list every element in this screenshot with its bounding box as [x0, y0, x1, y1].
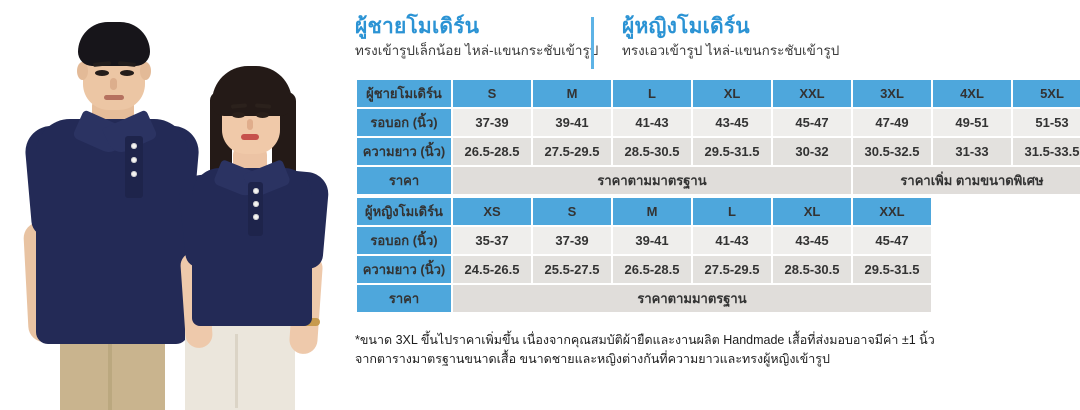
male-nose: [110, 78, 117, 90]
women-length-row: ความยาว (นิ้ว) 24.5-26.5 25.5-27.5 26.5-…: [357, 256, 931, 283]
women-size-xl: XL: [773, 198, 851, 225]
women-chest-row: รอบอก (นิ้ว) 35-37 37-39 39-41 41-43 43-…: [357, 227, 931, 254]
men-length-4xl: 31-33: [933, 138, 1011, 165]
men-size-3xl: 3XL: [853, 80, 931, 107]
men-chest-3xl: 47-49: [853, 109, 931, 136]
men-length-label: ความยาว (นิ้ว): [357, 138, 451, 165]
men-length-m: 27.5-29.5: [533, 138, 611, 165]
size-chart-page: ผู้ชายโมเดิร์น ทรงเข้ารูปเล็กน้อย ไหล่-แ…: [0, 0, 1080, 410]
men-chest-s: 37-39: [453, 109, 531, 136]
men-length-s: 26.5-28.5: [453, 138, 531, 165]
male-mouth: [104, 95, 124, 100]
women-length-m: 26.5-28.5: [613, 256, 691, 283]
women-size-xs: XS: [453, 198, 531, 225]
male-polo-shirt: [36, 119, 188, 344]
women-chest-m: 39-41: [613, 227, 691, 254]
men-size-xl: XL: [693, 80, 771, 107]
female-hair-top: [212, 66, 292, 116]
men-chest-xxl: 45-47: [773, 109, 851, 136]
women-size-xxl: XXL: [853, 198, 931, 225]
men-length-row: ความยาว (นิ้ว) 26.5-28.5 27.5-29.5 28.5-…: [357, 138, 1080, 165]
heading-women-subtitle: ทรงเอวเข้ารูป ไหล่-แขนกระชับเข้ารูป: [622, 43, 839, 60]
male-button-1: [131, 143, 137, 149]
headings-row: ผู้ชายโมเดิร์น ทรงเข้ารูปเล็กน้อย ไหล่-แ…: [355, 0, 1080, 78]
heading-women: ผู้หญิงโมเดิร์น ทรงเอวเข้ารูป ไหล่-แขนกร…: [594, 14, 839, 60]
men-length-5xl: 31.5-33.5: [1013, 138, 1080, 165]
men-length-xxl: 30-32: [773, 138, 851, 165]
men-corner-label: ผู้ชายโมเดิร์น: [357, 80, 451, 107]
men-price-standard: ราคาตามมาตรฐาน: [453, 167, 851, 194]
men-size-xxl: XXL: [773, 80, 851, 107]
footnote: *ขนาด 3XL ขึ้นไปราคาเพิ่มขึ้น เนื่องจากค…: [355, 331, 1080, 370]
women-price-standard: ราคาตามมาตรฐาน: [453, 285, 931, 312]
men-chest-row: รอบอก (นิ้ว) 37-39 39-41 41-43 43-45 45-…: [357, 109, 1080, 136]
male-hair: [78, 22, 150, 66]
heading-men: ผู้ชายโมเดิร์น ทรงเข้ารูปเล็กน้อย ไหล่-แ…: [355, 14, 591, 60]
women-length-s: 25.5-27.5: [533, 256, 611, 283]
men-header-row: ผู้ชายโมเดิร์น S M L XL XXL 3XL 4XL 5XL: [357, 80, 1080, 107]
heading-women-title: ผู้หญิงโมเดิร์น: [622, 14, 839, 39]
women-length-xl: 28.5-30.5: [773, 256, 851, 283]
men-size-table: ผู้ชายโมเดิร์น S M L XL XXL 3XL 4XL 5XL …: [355, 78, 1080, 196]
men-chest-label: รอบอก (นิ้ว): [357, 109, 451, 136]
female-eye-left: [232, 112, 245, 118]
women-price-row: ราคา ราคาตามมาตรฐาน: [357, 285, 931, 312]
men-size-m: M: [533, 80, 611, 107]
men-price-extra: ราคาเพิ่ม ตามขนาดพิเศษ: [853, 167, 1080, 194]
male-button-3: [131, 171, 137, 177]
male-eye-right: [120, 70, 134, 76]
women-size-s: S: [533, 198, 611, 225]
men-price-label: ราคา: [357, 167, 451, 194]
women-size-l: L: [693, 198, 771, 225]
female-button-1: [253, 188, 259, 194]
women-size-m: M: [613, 198, 691, 225]
men-size-s: S: [453, 80, 531, 107]
women-corner-label: ผู้หญิงโมเดิร์น: [357, 198, 451, 225]
women-size-table: ผู้หญิงโมเดิร์น XS S M L XL XXL รอบอก (น…: [355, 196, 933, 314]
women-length-xxl: 29.5-31.5: [853, 256, 931, 283]
women-length-l: 27.5-29.5: [693, 256, 771, 283]
women-header-row: ผู้หญิงโมเดิร์น XS S M L XL XXL: [357, 198, 931, 225]
men-chest-5xl: 51-53: [1013, 109, 1080, 136]
men-size-4xl: 4XL: [933, 80, 1011, 107]
women-chest-xxl: 45-47: [853, 227, 931, 254]
female-button-2: [253, 201, 259, 207]
women-chest-l: 41-43: [693, 227, 771, 254]
women-length-label: ความยาว (นิ้ว): [357, 256, 451, 283]
heading-men-subtitle: ทรงเข้ารูปเล็กน้อย ไหล่-แขนกระชับเข้ารูป: [355, 43, 591, 60]
women-chest-label: รอบอก (นิ้ว): [357, 227, 451, 254]
women-price-label: ราคา: [357, 285, 451, 312]
men-chest-xl: 43-45: [693, 109, 771, 136]
women-chest-xl: 43-45: [773, 227, 851, 254]
footnote-line-1: *ขนาด 3XL ขึ้นไปราคาเพิ่มขึ้น เนื่องจากค…: [355, 331, 1080, 350]
male-button-2: [131, 157, 137, 163]
men-length-3xl: 30.5-32.5: [853, 138, 931, 165]
men-length-l: 28.5-30.5: [613, 138, 691, 165]
footnote-line-2: จากตารางมาตรฐานขนาดเสื้อ ขนาดชายและหญิงต…: [355, 350, 1080, 369]
men-length-xl: 29.5-31.5: [693, 138, 771, 165]
men-size-l: L: [613, 80, 691, 107]
female-button-3: [253, 214, 259, 220]
men-chest-m: 39-41: [533, 109, 611, 136]
men-size-5xl: 5XL: [1013, 80, 1080, 107]
female-mouth: [241, 134, 259, 140]
male-eye-left: [95, 70, 109, 76]
model-photo: [0, 0, 355, 410]
men-chest-4xl: 49-51: [933, 109, 1011, 136]
women-length-xs: 24.5-26.5: [453, 256, 531, 283]
female-eye-right: [256, 112, 269, 118]
men-chest-l: 41-43: [613, 109, 691, 136]
size-chart-content: ผู้ชายโมเดิร์น ทรงเข้ารูปเล็กน้อย ไหล่-แ…: [355, 0, 1080, 410]
men-price-row: ราคา ราคาตามมาตรฐาน ราคาเพิ่ม ตามขนาดพิเ…: [357, 167, 1080, 194]
women-chest-xs: 35-37: [453, 227, 531, 254]
female-nose: [247, 119, 253, 130]
women-chest-s: 37-39: [533, 227, 611, 254]
heading-men-title: ผู้ชายโมเดิร์น: [355, 14, 591, 39]
